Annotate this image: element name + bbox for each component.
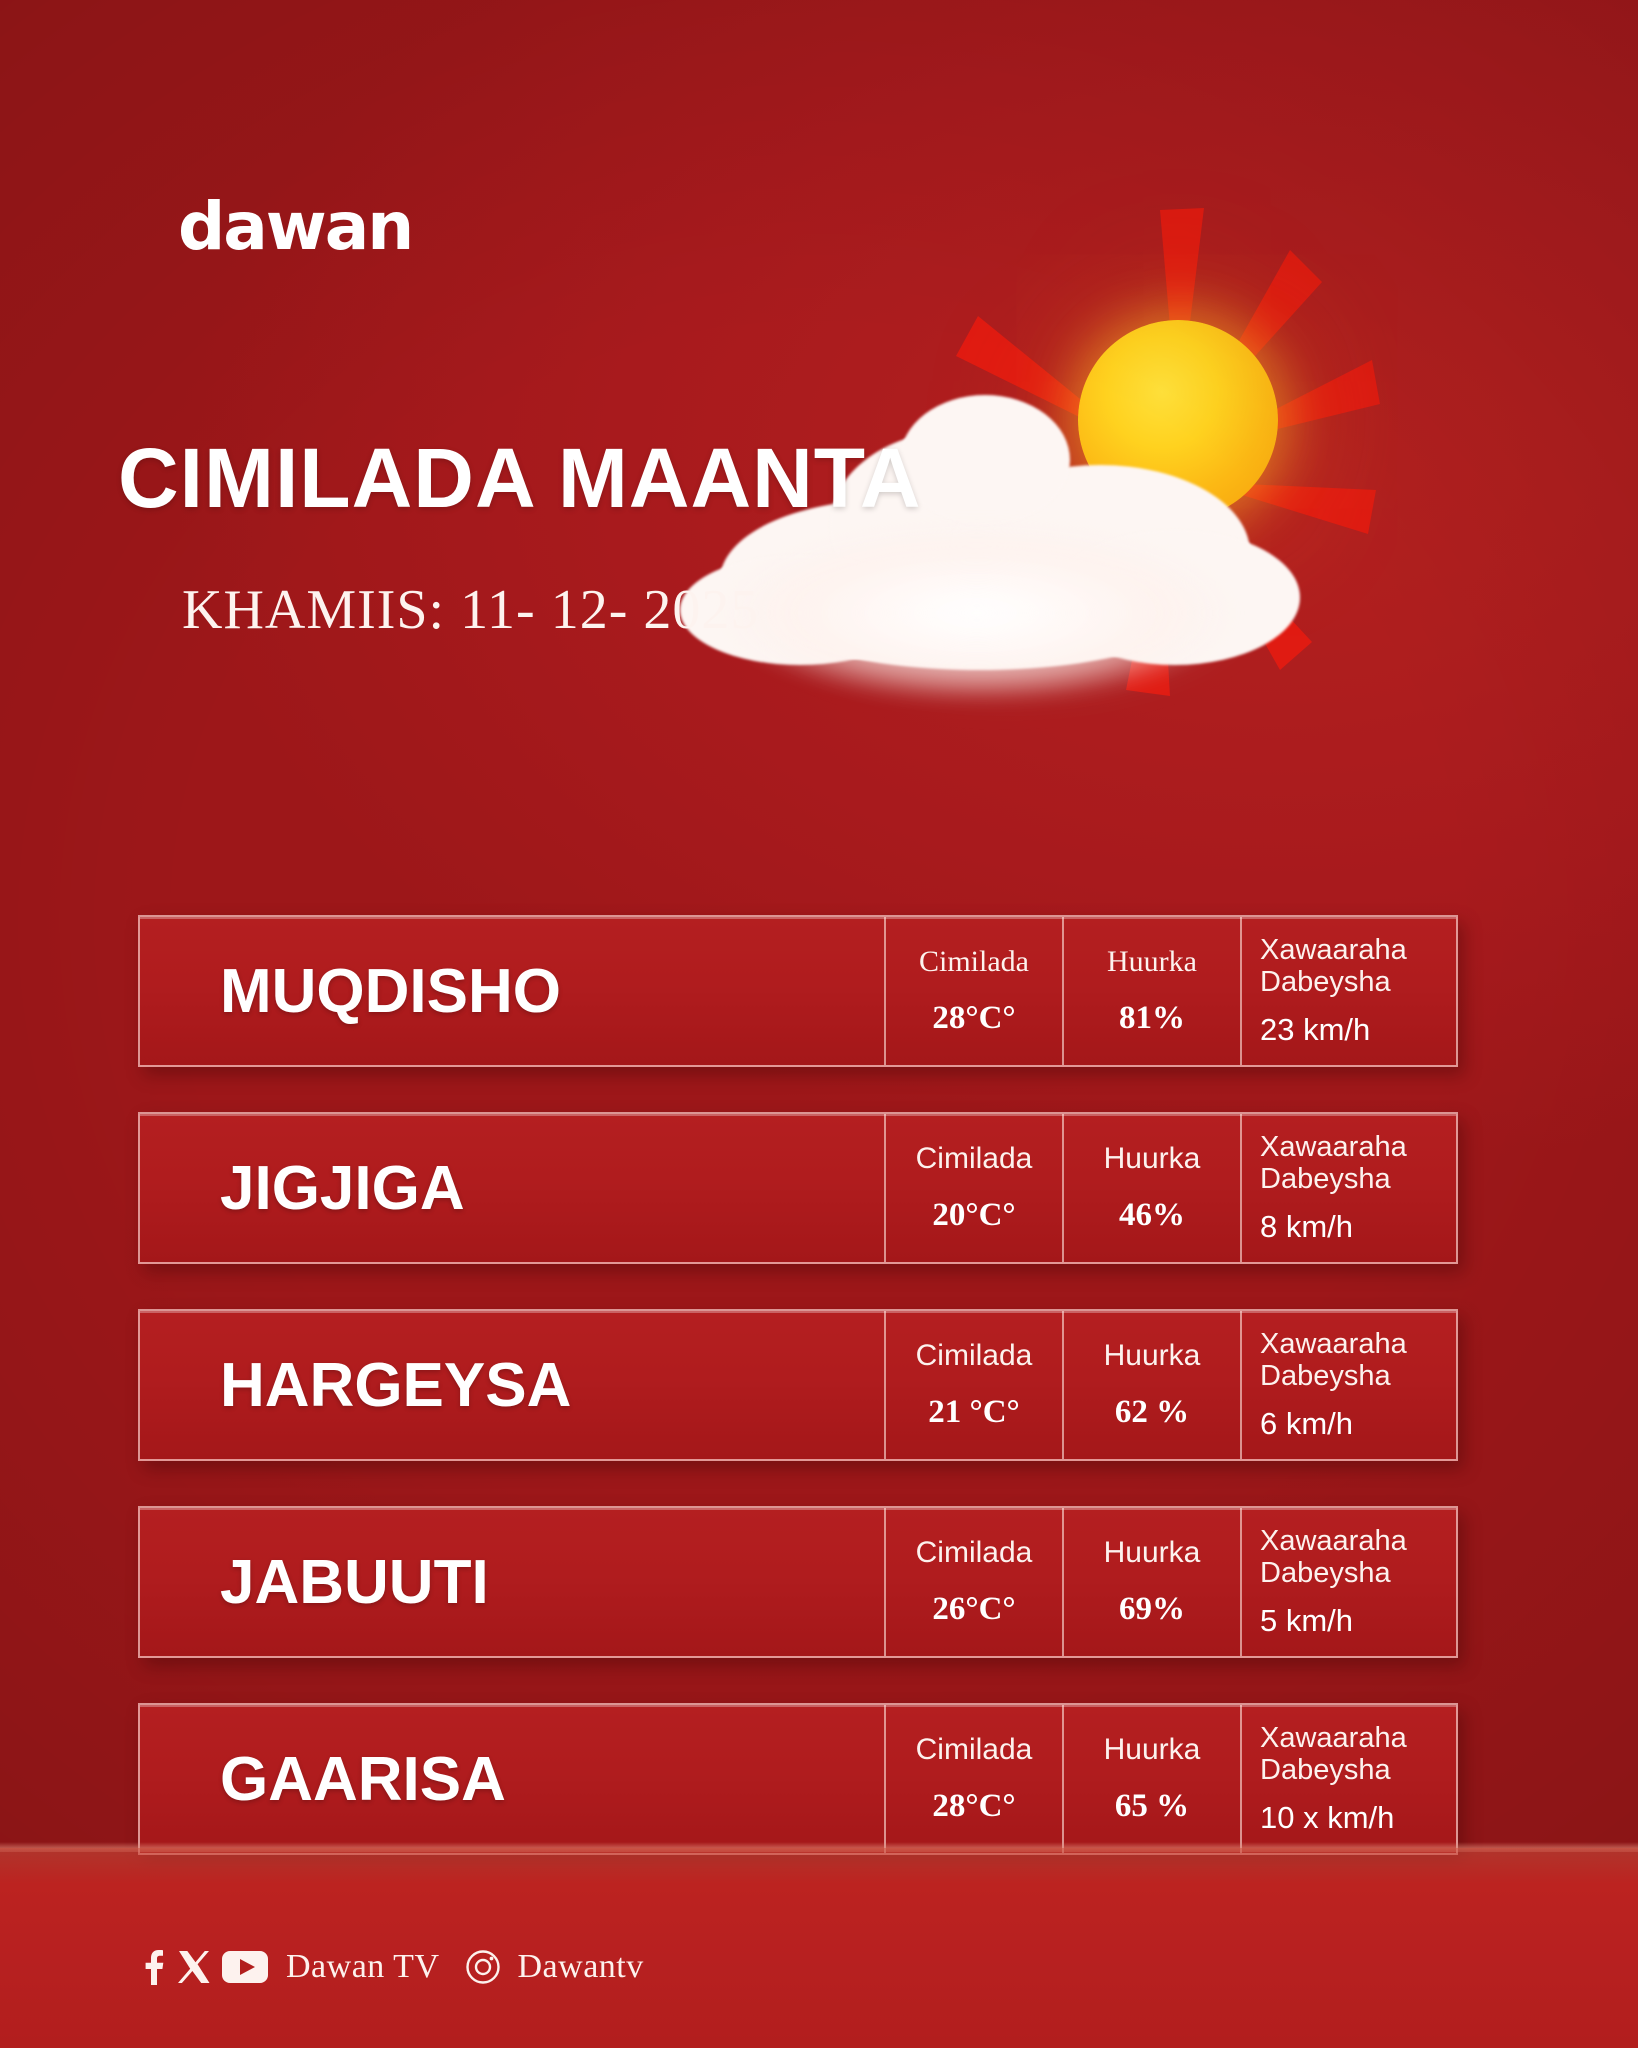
city-cell: JABUUTI <box>140 1508 884 1656</box>
wind-label: Xawaaraha Dabeysha <box>1260 934 1448 999</box>
youtube-icon[interactable] <box>222 1950 268 1984</box>
humidity-label: Huurka <box>1104 1733 1201 1767</box>
city-name: JABUUTI <box>220 1547 489 1618</box>
temperature-cell: Cimilada 26°C° <box>884 1508 1062 1656</box>
date-subtitle: KHAMIIS: 11- 12- 2025 <box>182 578 759 642</box>
weather-table: MUQDISHO Cimilada 28°C° Huurka 81% Xawaa… <box>138 915 1458 1900</box>
wind-cell: Xawaaraha Dabeysha 10 x km/h <box>1240 1705 1456 1853</box>
wind-value: 8 km/h <box>1260 1209 1353 1245</box>
humidity-value: 81% <box>1119 1000 1185 1037</box>
humidity-value: 62 % <box>1115 1394 1189 1431</box>
instagram-icon[interactable] <box>466 1950 500 1984</box>
table-row: GAARISA Cimilada 28°C° Huurka 65 % Xawaa… <box>138 1703 1458 1855</box>
wind-cell: Xawaaraha Dabeysha 5 km/h <box>1240 1508 1456 1656</box>
wind-value: 6 km/h <box>1260 1406 1353 1442</box>
table-row: HARGEYSA Cimilada 21 °C° Huurka 62 % Xaw… <box>138 1309 1458 1461</box>
social-bar: Dawan TV Dawantv <box>140 1948 658 1986</box>
temperature-label: Cimilada <box>916 1339 1033 1373</box>
wind-cell: Xawaaraha Dabeysha 6 km/h <box>1240 1311 1456 1459</box>
city-name: MUQDISHO <box>220 956 561 1027</box>
dawan-logo: dawan <box>178 188 412 265</box>
temperature-cell: Cimilada 28°C° <box>884 917 1062 1065</box>
humidity-value: 69% <box>1119 1591 1185 1628</box>
tv-handle: Dawan TV <box>286 1948 440 1986</box>
temperature-value: 28°C° <box>932 1000 1015 1037</box>
temperature-cell: Cimilada 28°C° <box>884 1705 1062 1853</box>
city-cell: HARGEYSA <box>140 1311 884 1459</box>
humidity-value: 46% <box>1119 1197 1185 1234</box>
cloud-icon <box>680 380 1320 700</box>
table-row: JIGJIGA Cimilada 20°C° Huurka 46% Xawaar… <box>138 1112 1458 1264</box>
city-cell: MUQDISHO <box>140 917 884 1065</box>
temperature-value: 20°C° <box>932 1197 1015 1234</box>
city-cell: GAARISA <box>140 1705 884 1853</box>
city-name: GAARISA <box>220 1744 506 1815</box>
humidity-cell: Huurka 65 % <box>1062 1705 1240 1853</box>
humidity-cell: Huurka 62 % <box>1062 1311 1240 1459</box>
city-name: JIGJIGA <box>220 1153 465 1224</box>
page-title: CIMILADA MAANTA <box>118 430 922 527</box>
instagram-handle: Dawantv <box>518 1948 644 1986</box>
humidity-label: Huurka <box>1104 1339 1201 1373</box>
humidity-cell: Huurka 46% <box>1062 1114 1240 1262</box>
wind-label: Xawaaraha Dabeysha <box>1260 1525 1448 1590</box>
wind-cell: Xawaaraha Dabeysha 8 km/h <box>1240 1114 1456 1262</box>
temperature-label: Cimilada <box>919 945 1029 979</box>
temperature-value: 26°C° <box>932 1591 1015 1628</box>
humidity-label: Huurka <box>1104 1536 1201 1570</box>
humidity-label: Huurka <box>1107 945 1197 979</box>
city-cell: JIGJIGA <box>140 1114 884 1262</box>
humidity-value: 65 % <box>1115 1788 1189 1825</box>
wind-label: Xawaaraha Dabeysha <box>1260 1328 1448 1393</box>
table-row: MUQDISHO Cimilada 28°C° Huurka 81% Xawaa… <box>138 915 1458 1067</box>
temperature-label: Cimilada <box>916 1536 1033 1570</box>
temperature-cell: Cimilada 20°C° <box>884 1114 1062 1262</box>
temperature-label: Cimilada <box>916 1733 1033 1767</box>
temperature-cell: Cimilada 21 °C° <box>884 1311 1062 1459</box>
wind-value: 23 km/h <box>1260 1012 1370 1048</box>
facebook-icon[interactable] <box>140 1949 166 1985</box>
city-name: HARGEYSA <box>220 1350 571 1421</box>
temperature-label: Cimilada <box>916 1142 1033 1176</box>
humidity-label: Huurka <box>1104 1142 1201 1176</box>
wind-value: 5 km/h <box>1260 1603 1353 1639</box>
table-row: JABUUTI Cimilada 26°C° Huurka 69% Xawaar… <box>138 1506 1458 1658</box>
wind-cell: Xawaaraha Dabeysha 23 km/h <box>1240 917 1456 1065</box>
wind-label: Xawaaraha Dabeysha <box>1260 1131 1448 1196</box>
humidity-cell: Huurka 69% <box>1062 1508 1240 1656</box>
x-icon[interactable] <box>178 1950 210 1984</box>
temperature-value: 28°C° <box>932 1788 1015 1825</box>
wind-value: 10 x km/h <box>1260 1800 1394 1836</box>
wind-label: Xawaaraha Dabeysha <box>1260 1722 1448 1787</box>
temperature-value: 21 °C° <box>928 1394 1019 1431</box>
humidity-cell: Huurka 81% <box>1062 917 1240 1065</box>
